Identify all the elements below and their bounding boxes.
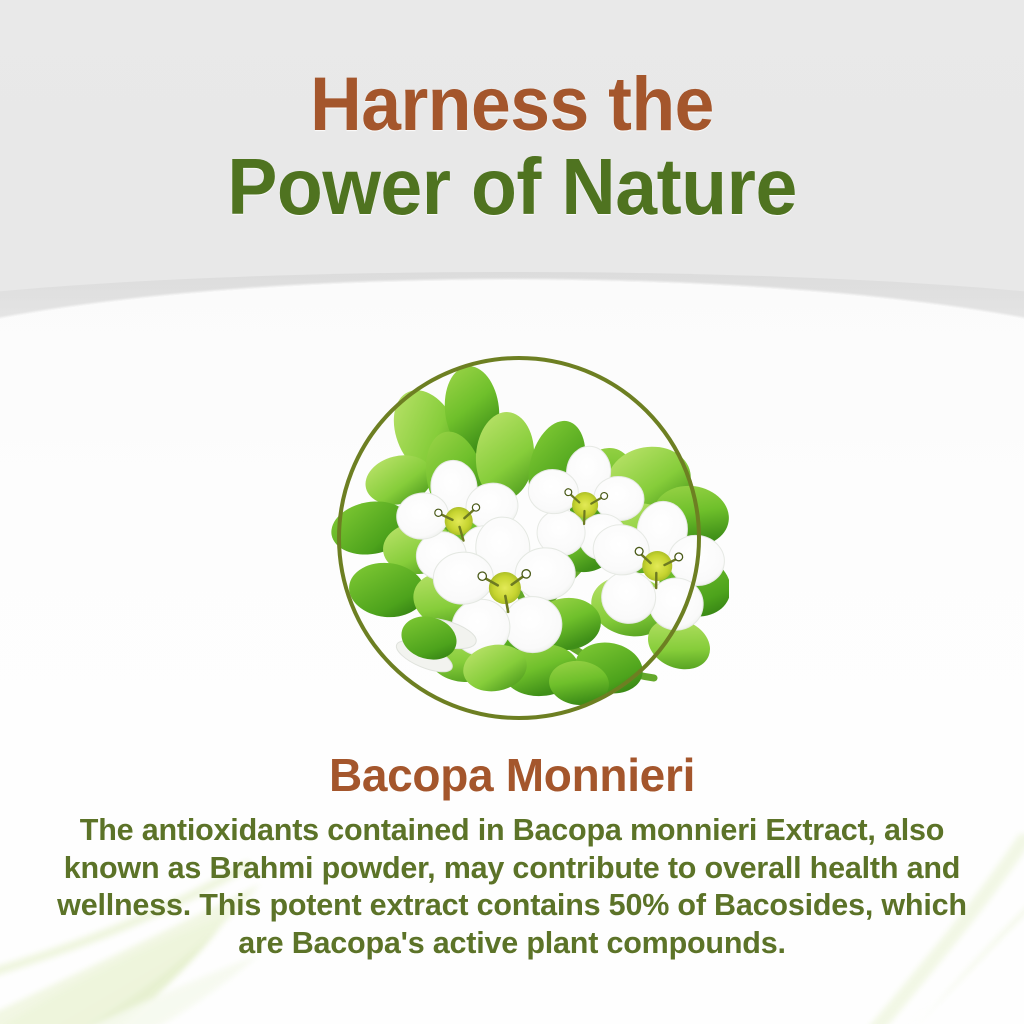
promo-banner: Harness the Power of Nature	[0, 0, 1024, 1024]
headline-line-1: Harness the	[31, 68, 994, 142]
plant-description: The antioxidants contained in Bacopa mon…	[52, 812, 972, 962]
plant-circle-ring	[337, 356, 701, 720]
plant-name: Bacopa Monnieri	[0, 748, 1024, 802]
headline: Harness the Power of Nature	[0, 68, 1024, 227]
headline-line-2: Power of Nature	[31, 148, 994, 226]
plant-image-badge	[337, 356, 701, 720]
